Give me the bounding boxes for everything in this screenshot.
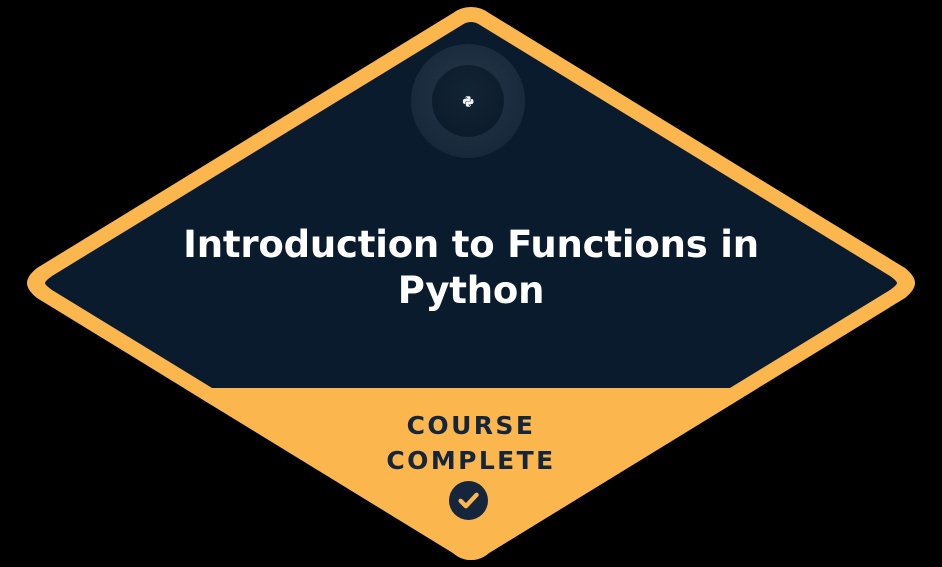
badge-canvas: Introduction to Functions in Python COUR… — [0, 0, 942, 567]
lower-amber-fill — [0, 388, 942, 567]
course-completion-badge — [0, 0, 942, 567]
